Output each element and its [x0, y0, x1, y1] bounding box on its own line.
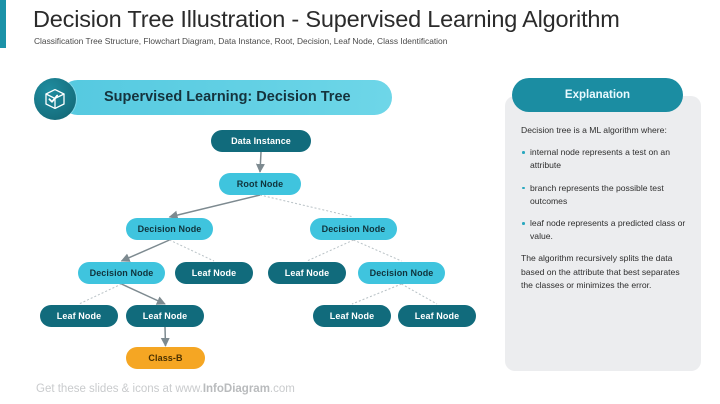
footer-brand: InfoDiagram: [203, 383, 270, 395]
tree-edge: [165, 327, 166, 346]
tree-node-label: Decision Node: [322, 224, 386, 234]
tree-edges: [0, 0, 500, 404]
tree-edge: [352, 284, 402, 304]
tree-node-decision-l2[interactable]: Decision Node: [78, 262, 165, 284]
footer-suffix: .com: [270, 383, 295, 395]
tree-node-decision-l1[interactable]: Decision Node: [126, 218, 213, 240]
tree-edge: [307, 240, 354, 261]
tree-edge: [170, 195, 261, 217]
tree-node-label: Root Node: [237, 179, 283, 189]
tree-node-leaf-r3b[interactable]: Leaf Node: [398, 305, 476, 327]
explanation-intro: Decision tree is a ML algorithm where:: [521, 124, 687, 137]
tree-node-label: Decision Node: [90, 268, 154, 278]
explanation-body: Decision tree is a ML algorithm where: i…: [521, 124, 687, 301]
tree-node-leaf-r3a[interactable]: Leaf Node: [313, 305, 391, 327]
tree-node-leaf-l2[interactable]: Leaf Node: [175, 262, 253, 284]
tree-edge: [170, 240, 215, 261]
footer-credit: Get these slides & icons at www.InfoDiag…: [36, 383, 295, 395]
tree-node-leaf-l3b[interactable]: Leaf Node: [126, 305, 204, 327]
tree-node-label: Data Instance: [231, 136, 291, 146]
tree-node-label: Leaf Node: [415, 311, 459, 321]
slide-canvas: Decision Tree Illustration - Supervised …: [0, 0, 720, 404]
tree-node-decision-r1[interactable]: Decision Node: [310, 218, 397, 240]
tree-node-leaf-l3a[interactable]: Leaf Node: [40, 305, 118, 327]
explanation-header: Explanation: [512, 78, 683, 112]
explanation-outro: The algorithm recursively splits the dat…: [521, 252, 687, 292]
tree-node-leaf-r2[interactable]: Leaf Node: [268, 262, 346, 284]
tree-edge: [122, 240, 170, 261]
tree-edge: [122, 284, 166, 304]
explanation-bullet-list: internal node represents a test on an at…: [521, 146, 687, 243]
footer-prefix: Get these slides & icons at www.: [36, 383, 203, 395]
tree-edge: [402, 284, 438, 304]
explanation-bullet: branch represents the possible test outc…: [521, 182, 687, 208]
tree-node-label: Leaf Node: [57, 311, 101, 321]
tree-node-class-b[interactable]: Class-B: [126, 347, 205, 369]
tree-node-label: Decision Node: [370, 268, 434, 278]
tree-node-label: Decision Node: [138, 224, 202, 234]
tree-node-label: Leaf Node: [192, 268, 236, 278]
tree-node-label: Leaf Node: [143, 311, 187, 321]
tree-node-decision-r2[interactable]: Decision Node: [358, 262, 445, 284]
tree-node-label: Leaf Node: [330, 311, 374, 321]
tree-node-label: Class-B: [148, 353, 182, 363]
tree-node-label: Leaf Node: [285, 268, 329, 278]
tree-edge: [79, 284, 122, 304]
tree-edge: [354, 240, 402, 261]
tree-node-root[interactable]: Root Node: [219, 173, 301, 195]
tree-edge: [260, 195, 354, 217]
explanation-bullet: internal node represents a test on an at…: [521, 146, 687, 172]
tree-edge: [260, 152, 261, 172]
explanation-bullet: leaf node represents a predicted class o…: [521, 217, 687, 243]
tree-node-data-instance[interactable]: Data Instance: [211, 130, 311, 152]
decision-tree-diagram: Data InstanceRoot NodeDecision NodeDecis…: [0, 0, 500, 404]
